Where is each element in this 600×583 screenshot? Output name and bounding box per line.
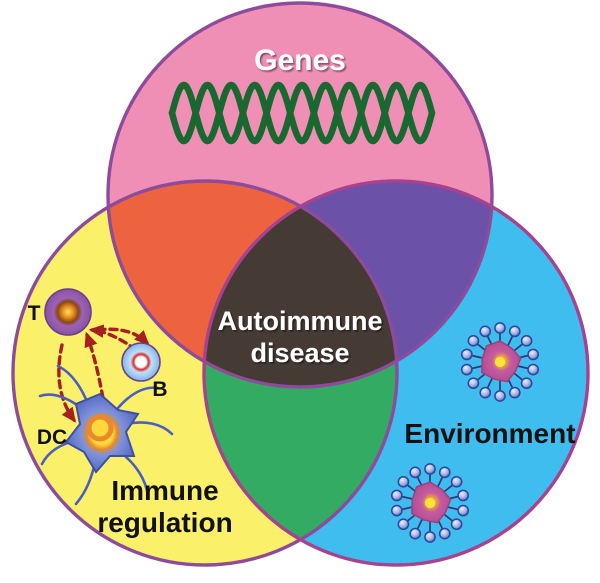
label-b-cell: B (152, 378, 167, 401)
label-immune-regulation-line2: regulation (97, 507, 232, 538)
virus-spike-knob (528, 364, 538, 374)
virus-spike-knob (451, 519, 461, 529)
virus-spike-knob (398, 519, 408, 529)
virus-spike-knob (468, 336, 478, 346)
label-t-cell: T (28, 302, 41, 325)
virus-spike-knob (528, 349, 538, 359)
virus-spike-knob (510, 388, 520, 398)
virus-spike-knob (521, 336, 531, 346)
virus-spike-knob (451, 477, 461, 487)
virus-spike-knob (392, 505, 402, 515)
virus-spike-knob (398, 477, 408, 487)
label-genes: Genes (254, 44, 346, 77)
label-autoimmune-disease-line2: disease (250, 338, 349, 368)
virus-spike-knob (440, 467, 450, 477)
virus-spike-knob (495, 391, 505, 401)
virus-core (425, 498, 435, 508)
virus-spike-knob (510, 326, 520, 336)
virus-spike-knob (425, 532, 435, 542)
label-environment: Environment (404, 418, 575, 449)
virus-spike-knob (468, 378, 478, 388)
b-cell-body[interactable] (122, 343, 160, 381)
virus-spike-knob (495, 323, 505, 333)
dendritic-cell-nucleus (89, 417, 111, 439)
virus-spike-knob (410, 467, 420, 477)
virus-spike-knob (458, 490, 468, 500)
virus-spike-knob (425, 464, 435, 474)
virus-spike-knob (480, 388, 490, 398)
virus-spike-knob (480, 326, 490, 336)
virus-core (495, 357, 505, 367)
label-autoimmune-disease-line1: Autoimmune (218, 306, 383, 336)
virus-spike-knob (462, 349, 472, 359)
label-immune-regulation-line1: Immune (111, 475, 218, 506)
virus-spike-knob (440, 529, 450, 539)
t-cell-body[interactable] (45, 289, 91, 335)
virus-spike-knob (392, 490, 402, 500)
venn-diagram-figure: Genes Autoimmune disease Immune regulati… (0, 0, 600, 583)
label-dendritic-cell: DC (37, 426, 67, 449)
virus-spike-knob (521, 378, 531, 388)
venn-diagram-svg: Genes Autoimmune disease Immune regulati… (0, 0, 600, 583)
virus-spike-knob (458, 505, 468, 515)
virus-spike-knob (410, 529, 420, 539)
virus-spike-knob (462, 364, 472, 374)
